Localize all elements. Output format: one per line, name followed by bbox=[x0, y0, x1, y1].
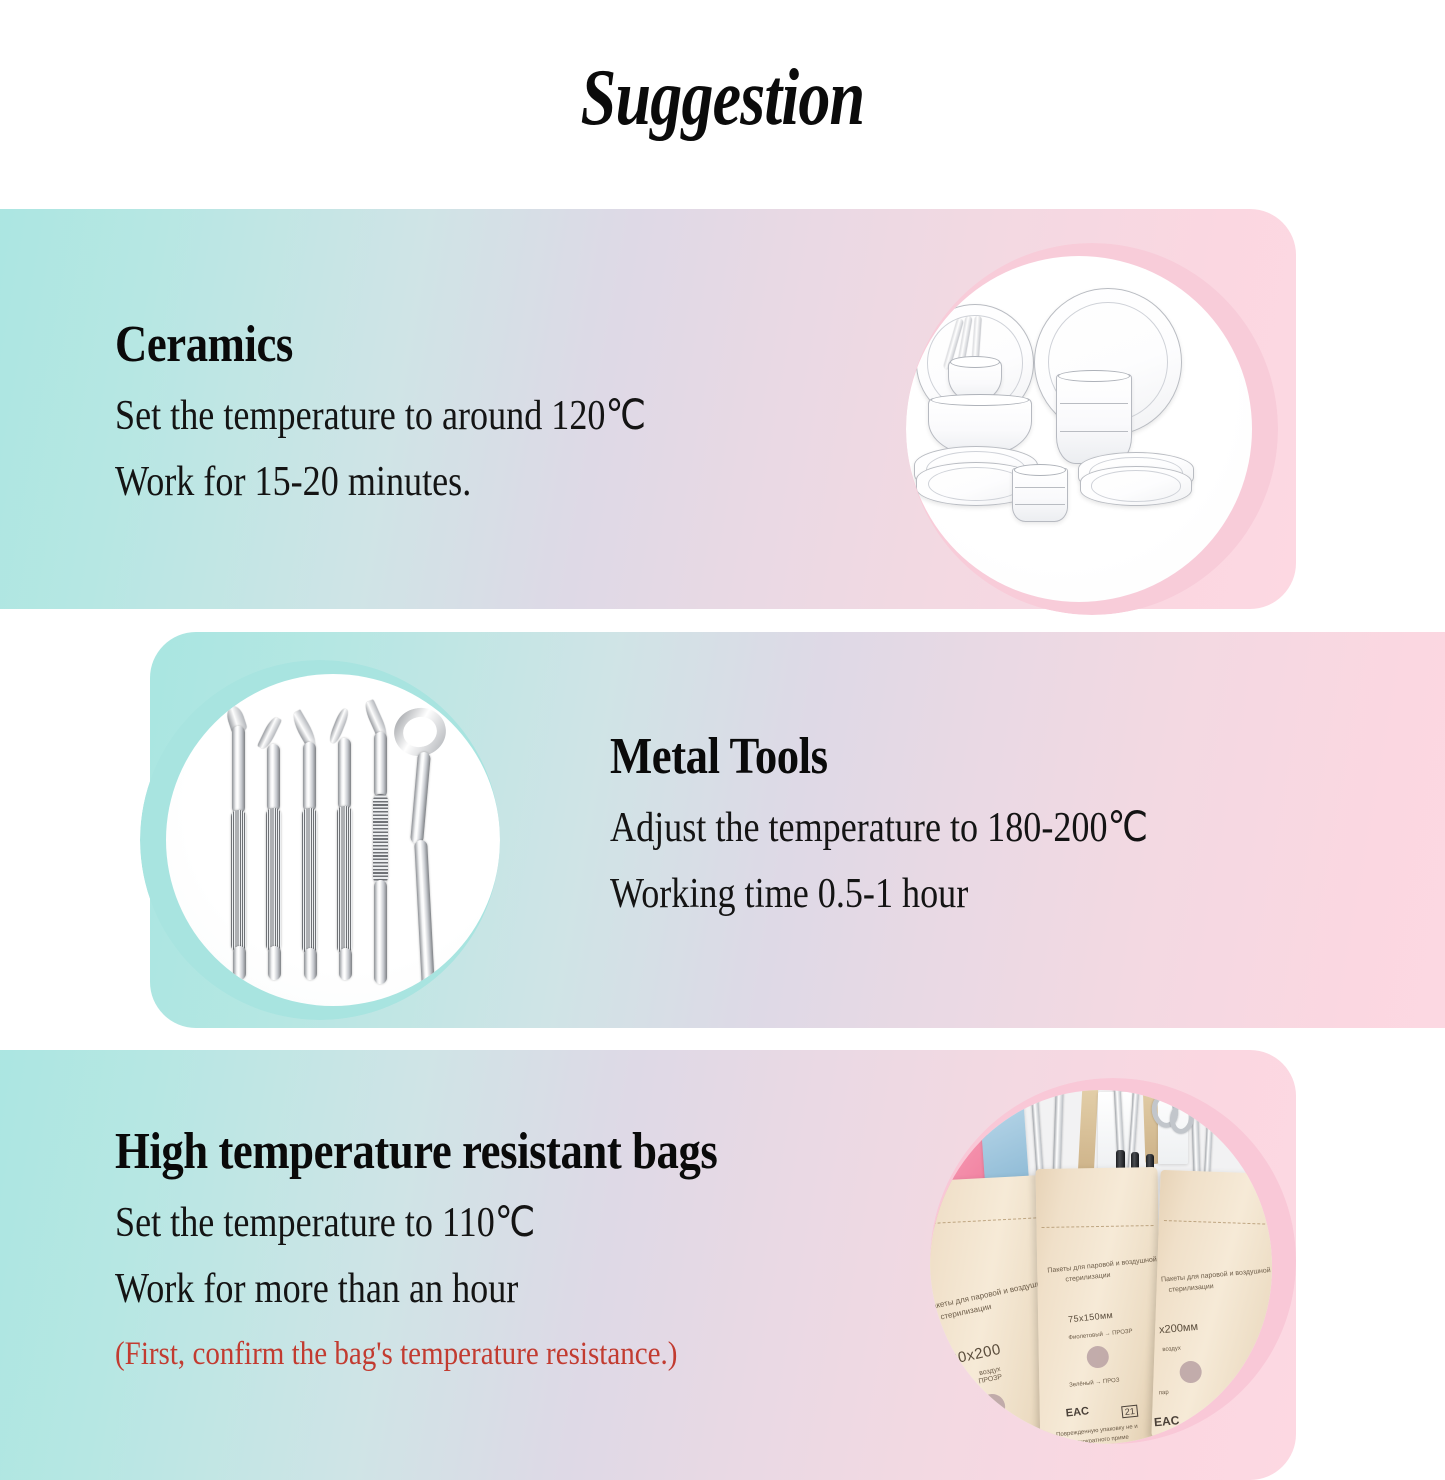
card-ceramics-heading: Ceramics bbox=[115, 318, 646, 372]
bowl-rim bbox=[931, 394, 1029, 406]
tool-4-shaft bbox=[338, 738, 351, 810]
sterilization-bag-middle: Пакеты для паровой и воздушной стерилиза… bbox=[1036, 1167, 1163, 1444]
wooden-stick-1 bbox=[1078, 1090, 1099, 1178]
bag-left-perforation bbox=[930, 1217, 1051, 1225]
bag-right-perforation bbox=[1164, 1220, 1272, 1225]
card-ceramics-copy: Ceramics Set the temperature to around 1… bbox=[115, 318, 733, 504]
small-dish-rim bbox=[1014, 464, 1066, 476]
bag-middle-color-change-2: Зелёный → ПРОЗ bbox=[1069, 1377, 1120, 1390]
tweezers-ribbed-grip bbox=[373, 794, 388, 884]
bag-right-steam-label: пар bbox=[1159, 1390, 1170, 1398]
ceramic-dinnerware-photo bbox=[906, 243, 1278, 615]
bag-right-size: x200мм bbox=[1159, 1321, 1199, 1338]
card-ceramics-line-1: Set the temperature to around 120℃ bbox=[115, 394, 646, 438]
card-bags-warning-note: (First, confirm the bag's temperature re… bbox=[115, 1337, 731, 1372]
small-stack-line-1 bbox=[1015, 487, 1065, 488]
bag-middle-cert-mark: EAC bbox=[1065, 1405, 1089, 1419]
metal-dental-tools-photo bbox=[140, 660, 500, 1020]
forceps-lower-shaft bbox=[414, 840, 435, 988]
card-metal-tools-copy: Metal Tools Adjust the temperature to 18… bbox=[610, 730, 1236, 916]
tweezers-shaft bbox=[374, 732, 387, 798]
photo-disc bbox=[166, 674, 500, 1006]
bowl-stack-tower bbox=[1056, 374, 1132, 464]
tool-3-end bbox=[304, 948, 317, 980]
photo-disc: Пакеты для паровой и воздушной стерилиза… bbox=[930, 1090, 1272, 1444]
bag-right-heading-1: Пакеты для паровой и воздушной bbox=[1161, 1267, 1271, 1285]
tool-2-grip bbox=[266, 808, 281, 952]
stack-line-1 bbox=[1060, 403, 1128, 404]
sterilization-bag-right: Пакеты для паровой и воздушной стерилиза… bbox=[1151, 1170, 1272, 1442]
tool-3-grip bbox=[302, 808, 317, 954]
tool-2-end bbox=[268, 946, 281, 980]
bag-middle-indicator-dot bbox=[1087, 1346, 1109, 1368]
bag-middle-perforation bbox=[1041, 1225, 1153, 1228]
small-dish-stack bbox=[1012, 468, 1068, 522]
tweezers-lower bbox=[374, 880, 387, 984]
bag-middle-recycle-code: 21 bbox=[1121, 1405, 1138, 1419]
bag-right-indicator-dot bbox=[1179, 1361, 1202, 1384]
card-bags-heading: High temperature resistant bags bbox=[115, 1125, 717, 1179]
card-bags-copy: High temperature resistant bags Set the … bbox=[115, 1125, 815, 1372]
bag-right-air-label: воздух bbox=[1162, 1346, 1181, 1355]
tool-2-shaft bbox=[267, 744, 280, 812]
cup-rim bbox=[950, 356, 1000, 368]
card-metal-tools-line-2: Working time 0.5-1 hour bbox=[610, 872, 1148, 916]
tool-4-end bbox=[339, 948, 352, 980]
forceps-upper-shaft bbox=[410, 752, 431, 845]
small-stack-line-2 bbox=[1015, 504, 1065, 505]
blue-sterilization-sheet bbox=[979, 1095, 1029, 1184]
card-ceramics-line-2: Work for 15-20 minutes. bbox=[115, 460, 646, 504]
photo-disc bbox=[906, 256, 1252, 602]
bowl-stack-rim bbox=[1058, 370, 1129, 382]
tool-1-shaft bbox=[232, 726, 245, 814]
bag-left-steam-label: пар bbox=[999, 1414, 1012, 1425]
bag-middle-color-change: Фиолетовый → ПРОЗР bbox=[1068, 1329, 1133, 1343]
bag-right-recycle-code: 21 bbox=[1209, 1415, 1226, 1428]
card-metal-tools-heading: Metal Tools bbox=[610, 730, 1148, 784]
card-bags-line-1: Set the temperature to 110℃ bbox=[115, 1201, 717, 1245]
bag-right-cert-mark: EAC bbox=[1153, 1413, 1179, 1429]
bag-right-heading-2: стерилизации bbox=[1168, 1283, 1214, 1296]
plate-stack-right-2 bbox=[1080, 466, 1192, 506]
page-title: Suggestion bbox=[145, 58, 1301, 138]
card-metal-tools-line-1: Adjust the temperature to 180-200℃ bbox=[610, 806, 1148, 850]
sterilization-pouch-bags-photo: Пакеты для паровой и воздушной стерилиза… bbox=[930, 1078, 1296, 1444]
card-bags-line-2: Work for more than an hour bbox=[115, 1267, 717, 1311]
tool-3-shaft bbox=[303, 742, 316, 812]
stack-line-2 bbox=[1060, 431, 1128, 432]
bag-middle-size: 75x150мм bbox=[1068, 1310, 1114, 1326]
tool-1-end bbox=[233, 946, 246, 980]
tool-1-grip bbox=[231, 810, 246, 952]
tool-4-grip bbox=[337, 806, 352, 954]
